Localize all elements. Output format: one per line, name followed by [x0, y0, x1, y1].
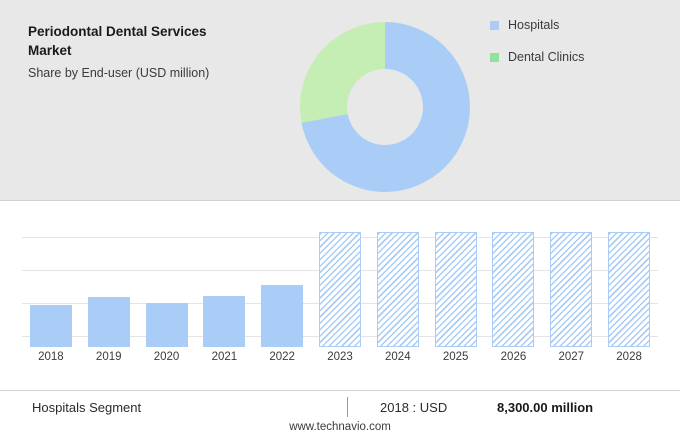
donut-hole: [347, 69, 423, 145]
bar-2027[interactable]: [550, 232, 592, 347]
bar-2025[interactable]: [435, 232, 477, 347]
bar-2018[interactable]: [30, 305, 72, 347]
x-tick-label: 2021: [196, 351, 252, 363]
footer-url: www.technavio.com: [0, 421, 680, 433]
chart-page: Periodontal Dental Services Market Share…: [0, 0, 680, 440]
donut-chart: [300, 22, 470, 192]
x-tick-label: 2018: [23, 351, 79, 363]
footer-section: Hospitals Segment 2018 : USD 8,300.00 mi…: [0, 390, 680, 441]
legend-label: Hospitals: [508, 18, 559, 32]
page-title-line1: Periodontal Dental Services: [28, 24, 207, 39]
bar-2024[interactable]: [377, 232, 419, 347]
x-tick-label: 2024: [370, 351, 426, 363]
x-tick-label: 2022: [254, 351, 310, 363]
footer-value-label: 8,300.00 million: [497, 400, 593, 415]
bar-2026[interactable]: [492, 232, 534, 347]
page-subtitle: Share by End-user (USD million): [28, 64, 318, 83]
legend-item-dental-clinics[interactable]: Dental Clinics: [490, 44, 584, 70]
x-tick-label: 2019: [81, 351, 137, 363]
page-title: Periodontal Dental Services Market: [28, 22, 318, 60]
title-block: Periodontal Dental Services Market Share…: [28, 22, 318, 83]
x-tick-label: 2026: [485, 351, 541, 363]
header-section: Periodontal Dental Services Market Share…: [0, 0, 680, 200]
legend-item-hospitals[interactable]: Hospitals: [490, 12, 584, 38]
bar-2020[interactable]: [146, 303, 188, 347]
x-tick-label: 2025: [428, 351, 484, 363]
legend-swatch-icon: [490, 53, 499, 62]
bar-chart-x-axis: 2018201920202021202220232024202520262027…: [22, 351, 658, 369]
x-tick-label: 2023: [312, 351, 368, 363]
bar-2021[interactable]: [203, 296, 245, 347]
chart-legend: Hospitals Dental Clinics: [490, 12, 584, 76]
footer-segment-label: Hospitals Segment: [32, 400, 141, 415]
bar-chart-plot: [22, 219, 658, 347]
page-title-line2: Market: [28, 43, 72, 58]
x-tick-label: 2027: [543, 351, 599, 363]
footer-row: Hospitals Segment 2018 : USD 8,300.00 mi…: [0, 391, 680, 423]
x-tick-label: 2028: [601, 351, 657, 363]
bar-chart-section: 2018201920202021202220232024202520262027…: [0, 200, 680, 391]
bar-2019[interactable]: [88, 297, 130, 347]
x-tick-label: 2020: [139, 351, 195, 363]
footer-divider: [347, 397, 348, 417]
bar-2023[interactable]: [319, 232, 361, 347]
legend-swatch-icon: [490, 21, 499, 30]
legend-label: Dental Clinics: [508, 50, 584, 64]
bar-2028[interactable]: [608, 232, 650, 347]
footer-year-label: 2018 : USD: [380, 400, 447, 415]
bar-2022[interactable]: [261, 285, 303, 347]
